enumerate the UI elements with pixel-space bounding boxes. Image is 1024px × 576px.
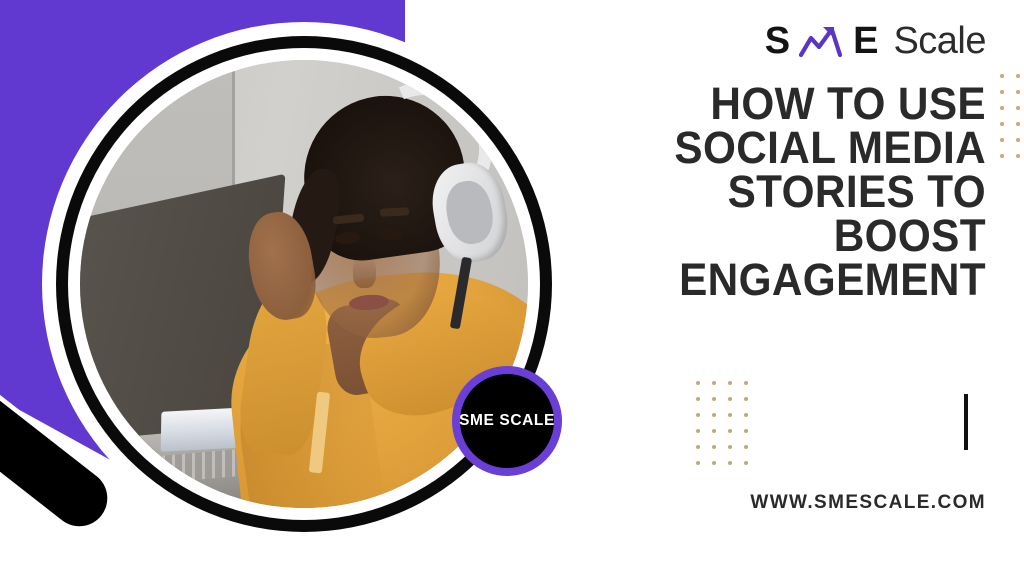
decorative-dot (744, 381, 748, 385)
logo-letter-s: S (765, 22, 789, 60)
decorative-dot (728, 381, 732, 385)
decorative-dot (744, 429, 748, 433)
decorative-dot (712, 461, 716, 465)
growth-arrow-icon (799, 24, 843, 58)
website-url: WWW.SMESCALE.COM (750, 492, 986, 514)
decorative-dot (696, 397, 700, 401)
decorative-dot (712, 413, 716, 417)
logo-letter-e: E (853, 22, 877, 60)
title-line-4: BOOST (591, 214, 986, 258)
decorative-dot (744, 397, 748, 401)
vertical-divider (964, 394, 968, 450)
decorative-dot (744, 445, 748, 449)
decorative-dot (696, 381, 700, 385)
decorative-dot (696, 445, 700, 449)
title-line-3: STORIES TO (591, 170, 986, 214)
decorative-dot (1016, 74, 1020, 78)
logo-word-scale: Scale (893, 22, 986, 60)
photo-eye-right (380, 228, 402, 240)
decorative-dot (1000, 122, 1004, 126)
title-line-2: SOCIAL MEDIA (591, 126, 986, 170)
decorative-dot (728, 461, 732, 465)
brand-logo[interactable]: S E Scale (765, 22, 986, 60)
badge-label: SME SCALE (459, 412, 555, 430)
page-title: HOW TO USE SOCIAL MEDIA STORIES TO BOOST… (591, 82, 986, 302)
decorative-dot (712, 397, 716, 401)
dot-pattern-middle (696, 381, 748, 465)
decorative-dot (1000, 74, 1004, 78)
poster-canvas: SME SCALE S E Scale HOW TO USE SOCIAL ME… (0, 0, 1024, 576)
decorative-dot (712, 445, 716, 449)
decorative-dot (696, 461, 700, 465)
decorative-dot (1000, 154, 1004, 158)
decorative-dot (1016, 90, 1020, 94)
decorative-dot (712, 381, 716, 385)
title-line-1: HOW TO USE (591, 82, 986, 126)
decorative-dot (1000, 106, 1004, 110)
decorative-dot (712, 429, 716, 433)
decorative-dot (728, 429, 732, 433)
decorative-dot (728, 413, 732, 417)
decorative-dot (1000, 90, 1004, 94)
decorative-dot (744, 413, 748, 417)
title-line-5: ENGAGEMENT (591, 258, 986, 302)
decorative-dot (728, 445, 732, 449)
decorative-dot (1016, 106, 1020, 110)
decorative-dot (1016, 154, 1020, 158)
decorative-dot (696, 413, 700, 417)
decorative-dot (728, 397, 732, 401)
decorative-dot (1016, 122, 1020, 126)
decorative-dot (1000, 138, 1004, 142)
decorative-dot (744, 461, 748, 465)
dot-pattern-right (1000, 74, 1020, 158)
decorative-dot (696, 429, 700, 433)
decorative-dot (1016, 138, 1020, 142)
sme-scale-badge[interactable]: SME SCALE (452, 366, 562, 476)
photo-nose (353, 257, 375, 288)
